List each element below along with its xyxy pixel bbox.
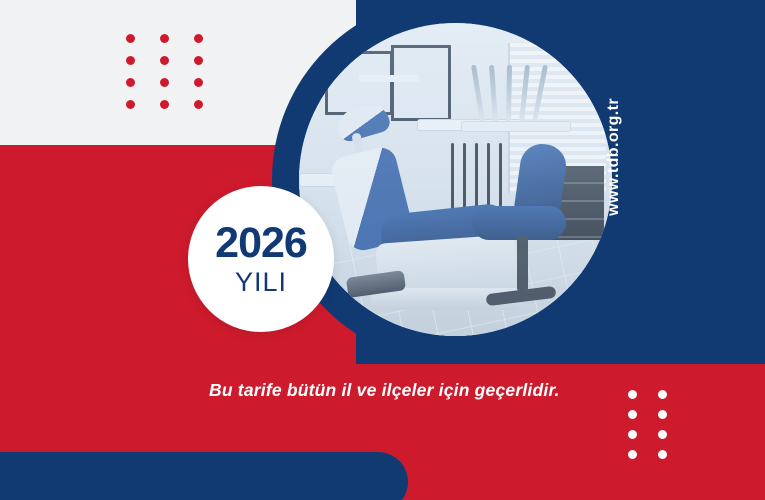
dot	[628, 410, 637, 419]
dot	[194, 78, 203, 87]
dot	[628, 390, 637, 399]
photo-colour-tint	[299, 23, 612, 336]
dot	[658, 430, 667, 439]
dot	[160, 34, 169, 43]
dot	[628, 430, 637, 439]
dot	[658, 390, 667, 399]
dot	[194, 34, 203, 43]
dot	[658, 450, 667, 459]
tagline-text: Bu tarife bütün il ve ilçeler için geçer…	[209, 380, 560, 401]
white-dot-grid	[628, 390, 688, 470]
dot	[126, 78, 135, 87]
dot	[160, 78, 169, 87]
badge-year: 2026	[215, 222, 307, 265]
dot	[194, 56, 203, 65]
photo-ring	[272, 0, 639, 363]
dot	[126, 56, 135, 65]
dot	[628, 450, 637, 459]
bottom-navy-bar	[0, 452, 408, 500]
dot	[160, 100, 169, 109]
year-badge: 2026 YILI	[188, 186, 334, 332]
red-dot-grid	[126, 34, 228, 122]
dot	[160, 56, 169, 65]
dot	[658, 410, 667, 419]
poster-canvas: www.tdb.org.tr 2026 YILI Bu tarife bütün…	[0, 0, 765, 500]
dental-surgery-photo	[299, 23, 612, 336]
dot	[126, 100, 135, 109]
dot	[126, 34, 135, 43]
badge-subtitle: YILI	[235, 269, 287, 296]
dot	[194, 100, 203, 109]
website-url[interactable]: www.tdb.org.tr	[605, 98, 623, 268]
